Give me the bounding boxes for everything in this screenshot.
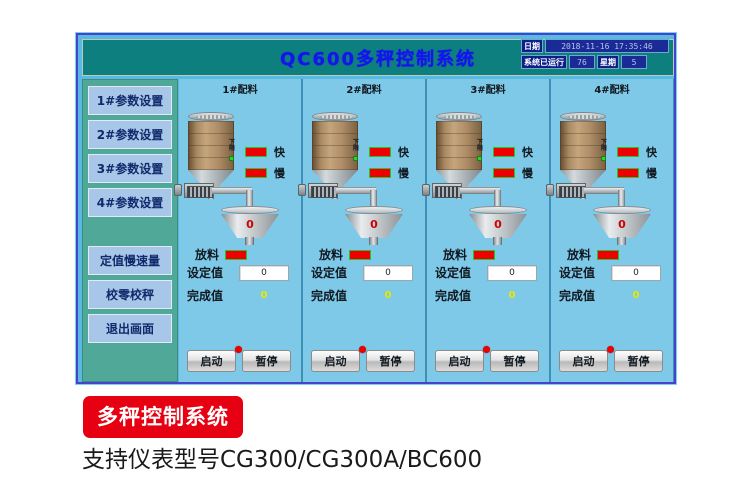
- slow-label: 慢: [274, 165, 285, 181]
- fast-indicator-row: 快: [369, 144, 409, 160]
- speed-indicator-group: 快 慢: [245, 144, 285, 186]
- actual-value: 0: [363, 290, 413, 301]
- discharge-label: 放料: [443, 246, 467, 263]
- slow-led-icon: [369, 168, 391, 178]
- silo-cap-icon: [188, 112, 234, 121]
- feeder-motor-icon: [546, 184, 554, 196]
- speed-indicator-group: 快 慢: [369, 144, 409, 186]
- low-limit-label: 下限: [476, 140, 484, 152]
- setpoint-row: 设定值 0: [311, 264, 425, 281]
- fast-led-icon: [493, 147, 515, 157]
- start-button[interactable]: 启动: [559, 350, 608, 372]
- sidebar-item-param3[interactable]: 3#参数设置: [88, 154, 172, 183]
- page-title: QC600多秤控制系统: [280, 45, 476, 71]
- run-status-led-icon: [359, 346, 366, 353]
- hopper-spout-icon: [493, 237, 502, 245]
- sidebar-item-zero-calibration[interactable]: 校零校秤: [88, 280, 172, 309]
- date-label: 日期: [521, 39, 543, 53]
- pause-button[interactable]: 暂停: [614, 350, 663, 372]
- actual-label: 完成值: [187, 287, 235, 304]
- pause-button[interactable]: 暂停: [366, 350, 415, 372]
- discharge-row: 放料: [195, 246, 247, 263]
- slow-indicator-row: 慢: [245, 165, 285, 181]
- setpoint-input[interactable]: 0: [239, 265, 289, 281]
- process-diagram: 下限 0 快: [179, 98, 301, 264]
- process-diagram: 下限 0 快: [303, 98, 425, 264]
- hopper-weight-value: 0: [593, 218, 651, 231]
- hopper-rim-icon: [593, 206, 651, 214]
- screw-feeder-icon: [184, 183, 214, 198]
- setpoint-input[interactable]: 0: [611, 265, 661, 281]
- weigh-hopper-icon: 0: [221, 206, 279, 238]
- low-limit-label: 下限: [228, 140, 236, 152]
- actual-label: 完成值: [559, 287, 607, 304]
- start-button[interactable]: 启动: [187, 350, 236, 372]
- product-subtitle: 支持仪表型号CG300/CG300A/BC600: [82, 440, 482, 474]
- low-limit-led-icon: [353, 156, 358, 161]
- weekday-value: 5: [621, 55, 647, 69]
- setpoint-row: 设定值 0: [435, 264, 549, 281]
- screw-feeder-icon: [308, 183, 338, 198]
- process-diagram: 下限 0 快: [427, 98, 549, 264]
- slow-label: 慢: [522, 165, 533, 181]
- actual-row: 完成值 0: [311, 287, 425, 304]
- low-limit-label: 下限: [600, 140, 608, 152]
- actual-row: 完成值 0: [187, 287, 301, 304]
- actual-row: 完成值 0: [559, 287, 673, 304]
- fast-led-icon: [617, 147, 639, 157]
- discharge-row: 放料: [319, 246, 371, 263]
- action-button-row: 启动 暂停: [559, 350, 663, 372]
- low-limit-led-icon: [229, 156, 234, 161]
- hopper-spout-icon: [245, 237, 254, 245]
- fast-label: 快: [646, 144, 657, 160]
- fast-indicator-row: 快: [617, 144, 657, 160]
- setpoint-label: 设定值: [559, 264, 607, 281]
- sidebar-item-param4[interactable]: 4#参数设置: [88, 188, 172, 217]
- discharge-led-icon: [597, 250, 619, 260]
- actual-row: 完成值 0: [435, 287, 549, 304]
- run-status-led-icon: [607, 346, 614, 353]
- action-button-row: 启动 暂停: [435, 350, 539, 372]
- batching-panels: 1#配料 下限 0: [179, 79, 674, 382]
- speed-indicator-group: 快 慢: [617, 144, 657, 186]
- panel-title: 4#配料: [551, 81, 673, 96]
- batching-panel-1: 1#配料 下限 0: [179, 79, 302, 382]
- feeder-motor-icon: [422, 184, 430, 196]
- slow-indicator-row: 慢: [369, 165, 409, 181]
- setpoint-input[interactable]: 0: [487, 265, 537, 281]
- actual-label: 完成值: [435, 287, 483, 304]
- run-status-led-icon: [235, 346, 242, 353]
- product-badge: 多秤控制系统: [83, 396, 243, 438]
- batching-panel-4: 4#配料 下限 0: [550, 79, 674, 382]
- low-limit-led-icon: [601, 156, 606, 161]
- discharge-label: 放料: [195, 246, 219, 263]
- fast-led-icon: [369, 147, 391, 157]
- hopper-body-icon: 0: [469, 214, 527, 238]
- hmi-screen: QC600多秤控制系统 日期 2018-11-16 17:35:46 系统已运行…: [76, 33, 676, 384]
- run-status-led-icon: [483, 346, 490, 353]
- fast-indicator-row: 快: [493, 144, 533, 160]
- runtime-label: 系统已运行: [521, 55, 567, 69]
- setpoint-row: 设定值 0: [559, 264, 673, 281]
- weekday-label: 星期: [597, 55, 619, 69]
- hopper-spout-icon: [617, 237, 626, 245]
- slow-label: 慢: [646, 165, 657, 181]
- panel-title: 3#配料: [427, 81, 549, 96]
- discharge-row: 放料: [443, 246, 495, 263]
- hopper-weight-value: 0: [221, 218, 279, 231]
- slow-led-icon: [617, 168, 639, 178]
- setpoint-label: 设定值: [187, 264, 235, 281]
- pause-button[interactable]: 暂停: [242, 350, 291, 372]
- slow-led-icon: [245, 168, 267, 178]
- batching-panel-2: 2#配料 下限 0: [302, 79, 426, 382]
- process-diagram: 下限 0 快: [551, 98, 673, 264]
- hopper-weight-value: 0: [469, 218, 527, 231]
- hopper-spout-icon: [369, 237, 378, 245]
- sidebar-item-param2[interactable]: 2#参数设置: [88, 120, 172, 149]
- silo-cap-icon: [560, 112, 606, 121]
- hopper-rim-icon: [469, 206, 527, 214]
- start-button[interactable]: 启动: [311, 350, 360, 372]
- setpoint-row: 设定值 0: [187, 264, 301, 281]
- runtime-row: 系统已运行 76 星期 5: [521, 55, 669, 69]
- actual-label: 完成值: [311, 287, 359, 304]
- actual-value: 0: [487, 290, 537, 301]
- fast-label: 快: [274, 144, 285, 160]
- hopper-body-icon: 0: [345, 214, 403, 238]
- slow-indicator-row: 慢: [493, 165, 533, 181]
- date-row: 日期 2018-11-16 17:35:46: [521, 39, 669, 53]
- weigh-hopper-icon: 0: [469, 206, 527, 238]
- start-button[interactable]: 启动: [435, 350, 484, 372]
- feeder-motor-icon: [174, 184, 182, 196]
- panel-title: 2#配料: [303, 81, 425, 96]
- discharge-led-icon: [349, 250, 371, 260]
- low-limit-led-icon: [477, 156, 482, 161]
- setpoint-input[interactable]: 0: [363, 265, 413, 281]
- discharge-led-icon: [473, 250, 495, 260]
- date-value: 2018-11-16 17:35:46: [545, 39, 669, 53]
- action-button-row: 启动 暂停: [187, 350, 291, 372]
- discharge-led-icon: [225, 250, 247, 260]
- slow-indicator-row: 慢: [617, 165, 657, 181]
- low-limit-label: 下限: [352, 140, 360, 152]
- hopper-body-icon: 0: [221, 214, 279, 238]
- sidebar-item-slow-speed[interactable]: 定值慢速量: [88, 246, 172, 275]
- silo-cap-icon: [312, 112, 358, 121]
- screw-feeder-icon: [556, 183, 586, 198]
- pause-button[interactable]: 暂停: [490, 350, 539, 372]
- runtime-value: 76: [569, 55, 595, 69]
- discharge-row: 放料: [567, 246, 619, 263]
- action-button-row: 启动 暂停: [311, 350, 415, 372]
- sidebar-item-exit[interactable]: 退出画面: [88, 314, 172, 343]
- slow-led-icon: [493, 168, 515, 178]
- batching-panel-3: 3#配料 下限 0: [426, 79, 550, 382]
- screw-feeder-icon: [432, 183, 462, 198]
- silo-cap-icon: [436, 112, 482, 121]
- panel-title: 1#配料: [179, 81, 301, 96]
- hopper-rim-icon: [221, 206, 279, 214]
- weigh-hopper-icon: 0: [345, 206, 403, 238]
- setpoint-label: 设定值: [435, 264, 483, 281]
- sidebar-spacer: [88, 222, 172, 246]
- fast-label: 快: [398, 144, 409, 160]
- status-cluster: 日期 2018-11-16 17:35:46 系统已运行 76 星期 5: [521, 39, 669, 70]
- actual-value: 0: [239, 290, 289, 301]
- discharge-label: 放料: [319, 246, 343, 263]
- discharge-label: 放料: [567, 246, 591, 263]
- sidebar-item-param1[interactable]: 1#参数设置: [88, 86, 172, 115]
- slow-label: 慢: [398, 165, 409, 181]
- sidebar: 1#参数设置 2#参数设置 3#参数设置 4#参数设置 定值慢速量 校零校秤 退…: [82, 79, 178, 382]
- actual-value: 0: [611, 290, 661, 301]
- setpoint-label: 设定值: [311, 264, 359, 281]
- hopper-weight-value: 0: [345, 218, 403, 231]
- fast-indicator-row: 快: [245, 144, 285, 160]
- feeder-motor-icon: [298, 184, 306, 196]
- weigh-hopper-icon: 0: [593, 206, 651, 238]
- hopper-body-icon: 0: [593, 214, 651, 238]
- fast-led-icon: [245, 147, 267, 157]
- hopper-rim-icon: [345, 206, 403, 214]
- fast-label: 快: [522, 144, 533, 160]
- speed-indicator-group: 快 慢: [493, 144, 533, 186]
